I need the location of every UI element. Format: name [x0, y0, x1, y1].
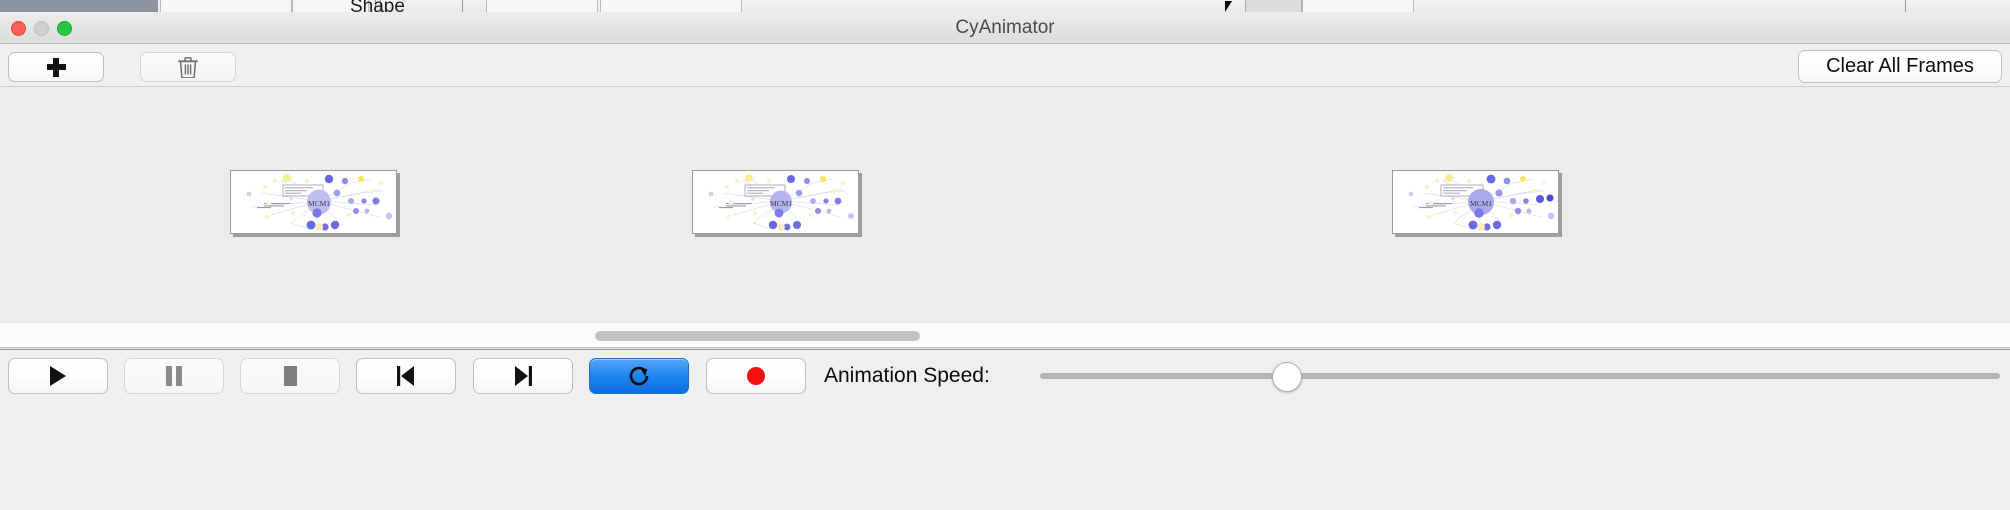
timeline-panel[interactable]: MCM1	[0, 87, 2010, 324]
record-icon	[744, 364, 768, 388]
slider-track	[1040, 373, 2000, 379]
animation-speed-slider[interactable]	[1040, 373, 2000, 379]
trash-icon	[178, 56, 198, 78]
pause-icon	[164, 364, 184, 388]
animation-speed-label: Animation Speed:	[824, 364, 990, 388]
timeline-frame[interactable]: MCM1	[692, 170, 859, 234]
svg-text:MCM1: MCM1	[1470, 199, 1492, 208]
svg-text:MCM1: MCM1	[770, 199, 792, 208]
loop-icon	[627, 364, 651, 388]
pause-button[interactable]	[124, 358, 224, 394]
page-title: CyAnimator	[0, 12, 2010, 44]
cursor-arrow-icon	[1225, 1, 1232, 12]
delete-frame-button[interactable]	[140, 52, 236, 82]
maximize-button[interactable]	[57, 21, 72, 36]
play-icon	[47, 364, 69, 388]
background-divider	[1905, 0, 1906, 12]
timeline-frame[interactable]: MCM1	[1392, 170, 1559, 234]
toolbar: Clear All Frames	[0, 44, 2010, 87]
stop-button[interactable]	[240, 358, 340, 394]
background-segment	[600, 0, 742, 12]
background-window-label: Shape	[350, 0, 405, 12]
record-button[interactable]	[706, 358, 806, 394]
close-button[interactable]	[11, 21, 26, 36]
timeline-frame[interactable]: MCM1	[230, 170, 397, 234]
background-segment	[1302, 0, 1414, 12]
background-divider	[462, 0, 463, 12]
skip-forward-button[interactable]	[473, 358, 573, 394]
titlebar: CyAnimator	[0, 12, 2010, 44]
clear-all-frames-button[interactable]: Clear All Frames	[1798, 50, 2002, 83]
skip-back-icon	[395, 364, 417, 388]
play-button[interactable]	[8, 358, 108, 394]
playback-controls: Animation Speed:	[0, 349, 2010, 510]
slider-thumb[interactable]	[1272, 362, 1302, 392]
scrollbar-thumb[interactable]	[595, 331, 920, 341]
timeline-scrollbar[interactable]	[0, 322, 2010, 348]
skip-forward-icon	[512, 364, 534, 388]
add-frame-button[interactable]	[8, 52, 104, 82]
background-segment	[1245, 0, 1302, 12]
background-segment	[160, 0, 292, 12]
skip-back-button[interactable]	[356, 358, 456, 394]
loop-button[interactable]	[589, 358, 689, 394]
background-window-strip: Shape	[0, 0, 2010, 12]
traffic-lights	[11, 21, 72, 36]
background-segment	[486, 0, 598, 12]
clear-all-frames-label: Clear All Frames	[1826, 55, 1974, 78]
svg-text:MCM1: MCM1	[308, 199, 330, 208]
plus-icon	[47, 58, 66, 77]
stop-icon	[280, 364, 300, 388]
cyanimator-window: Shape CyAnimator Clear All Frames	[0, 0, 2010, 510]
background-sidebar	[0, 0, 158, 12]
minimize-button[interactable]	[34, 21, 49, 36]
